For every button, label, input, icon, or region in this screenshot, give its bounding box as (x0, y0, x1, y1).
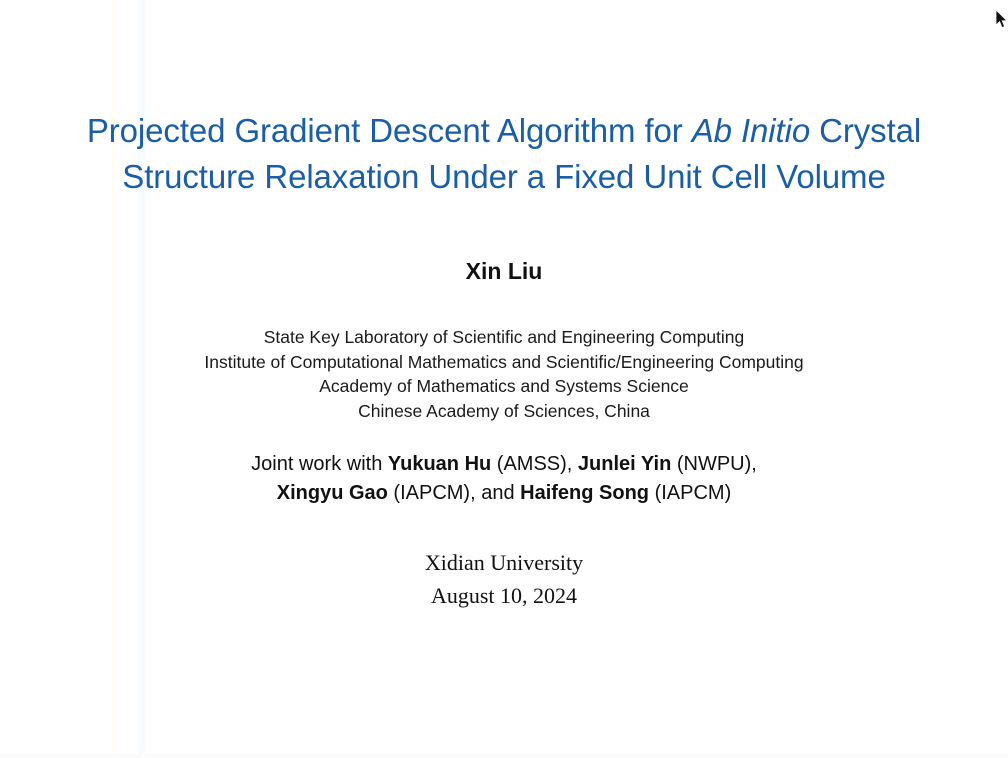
collaborator-name-1: Yukuan Hu (388, 453, 491, 475)
presentation-date: August 10, 2024 (0, 579, 1008, 612)
author-name: Xin Liu (0, 256, 1008, 286)
title-block: Projected Gradient Descent Algorithm for… (64, 108, 944, 200)
joint-work-line-2: Xingyu Gao (IAPCM), and Haifeng Song (IA… (0, 479, 1008, 508)
collaborator-affiliation-4: (IAPCM) (649, 482, 731, 504)
affiliation-block: State Key Laboratory of Scientific and E… (0, 325, 1008, 423)
collaborator-name-3: Xingyu Gao (277, 482, 388, 504)
slide-title-line-1-prefix: Projected Gradient Descent Algorithm for (87, 112, 692, 149)
venue-block: Xidian University August 10, 2024 (0, 546, 1008, 612)
slide-title-italic-ab-initio: Ab Initio (692, 112, 810, 149)
joint-work-prefix: Joint work with (251, 453, 388, 475)
slide-content: Projected Gradient Descent Algorithm for… (0, 0, 1008, 758)
affiliation-line-3: Academy of Mathematics and Systems Scien… (0, 374, 1008, 399)
slide-viewer: Projected Gradient Descent Algorithm for… (0, 0, 1008, 758)
collaborator-affiliation-2: (NWPU), (671, 453, 757, 475)
venue-institution: Xidian University (0, 546, 1008, 579)
affiliation-line-1: State Key Laboratory of Scientific and E… (0, 325, 1008, 350)
slide-title-line-2: Structure Relaxation Under a Fixed Unit … (64, 154, 944, 200)
affiliation-line-4: Chinese Academy of Sciences, China (0, 399, 1008, 424)
collaborator-name-4: Haifeng Song (520, 482, 649, 504)
author-block: Xin Liu (0, 256, 1008, 286)
slide-title-line-1: Projected Gradient Descent Algorithm for… (64, 108, 944, 154)
affiliation-line-2: Institute of Computational Mathematics a… (0, 350, 1008, 375)
collaborator-name-2: Junlei Yin (578, 453, 671, 475)
joint-work-block: Joint work with Yukuan Hu (AMSS), Junlei… (0, 450, 1008, 508)
collaborator-affiliation-1: (AMSS), (491, 453, 578, 475)
slide-title-line-1-suffix: Crystal (810, 112, 921, 149)
collaborator-affiliation-3: (IAPCM), and (388, 482, 520, 504)
joint-work-line-1: Joint work with Yukuan Hu (AMSS), Junlei… (0, 450, 1008, 479)
